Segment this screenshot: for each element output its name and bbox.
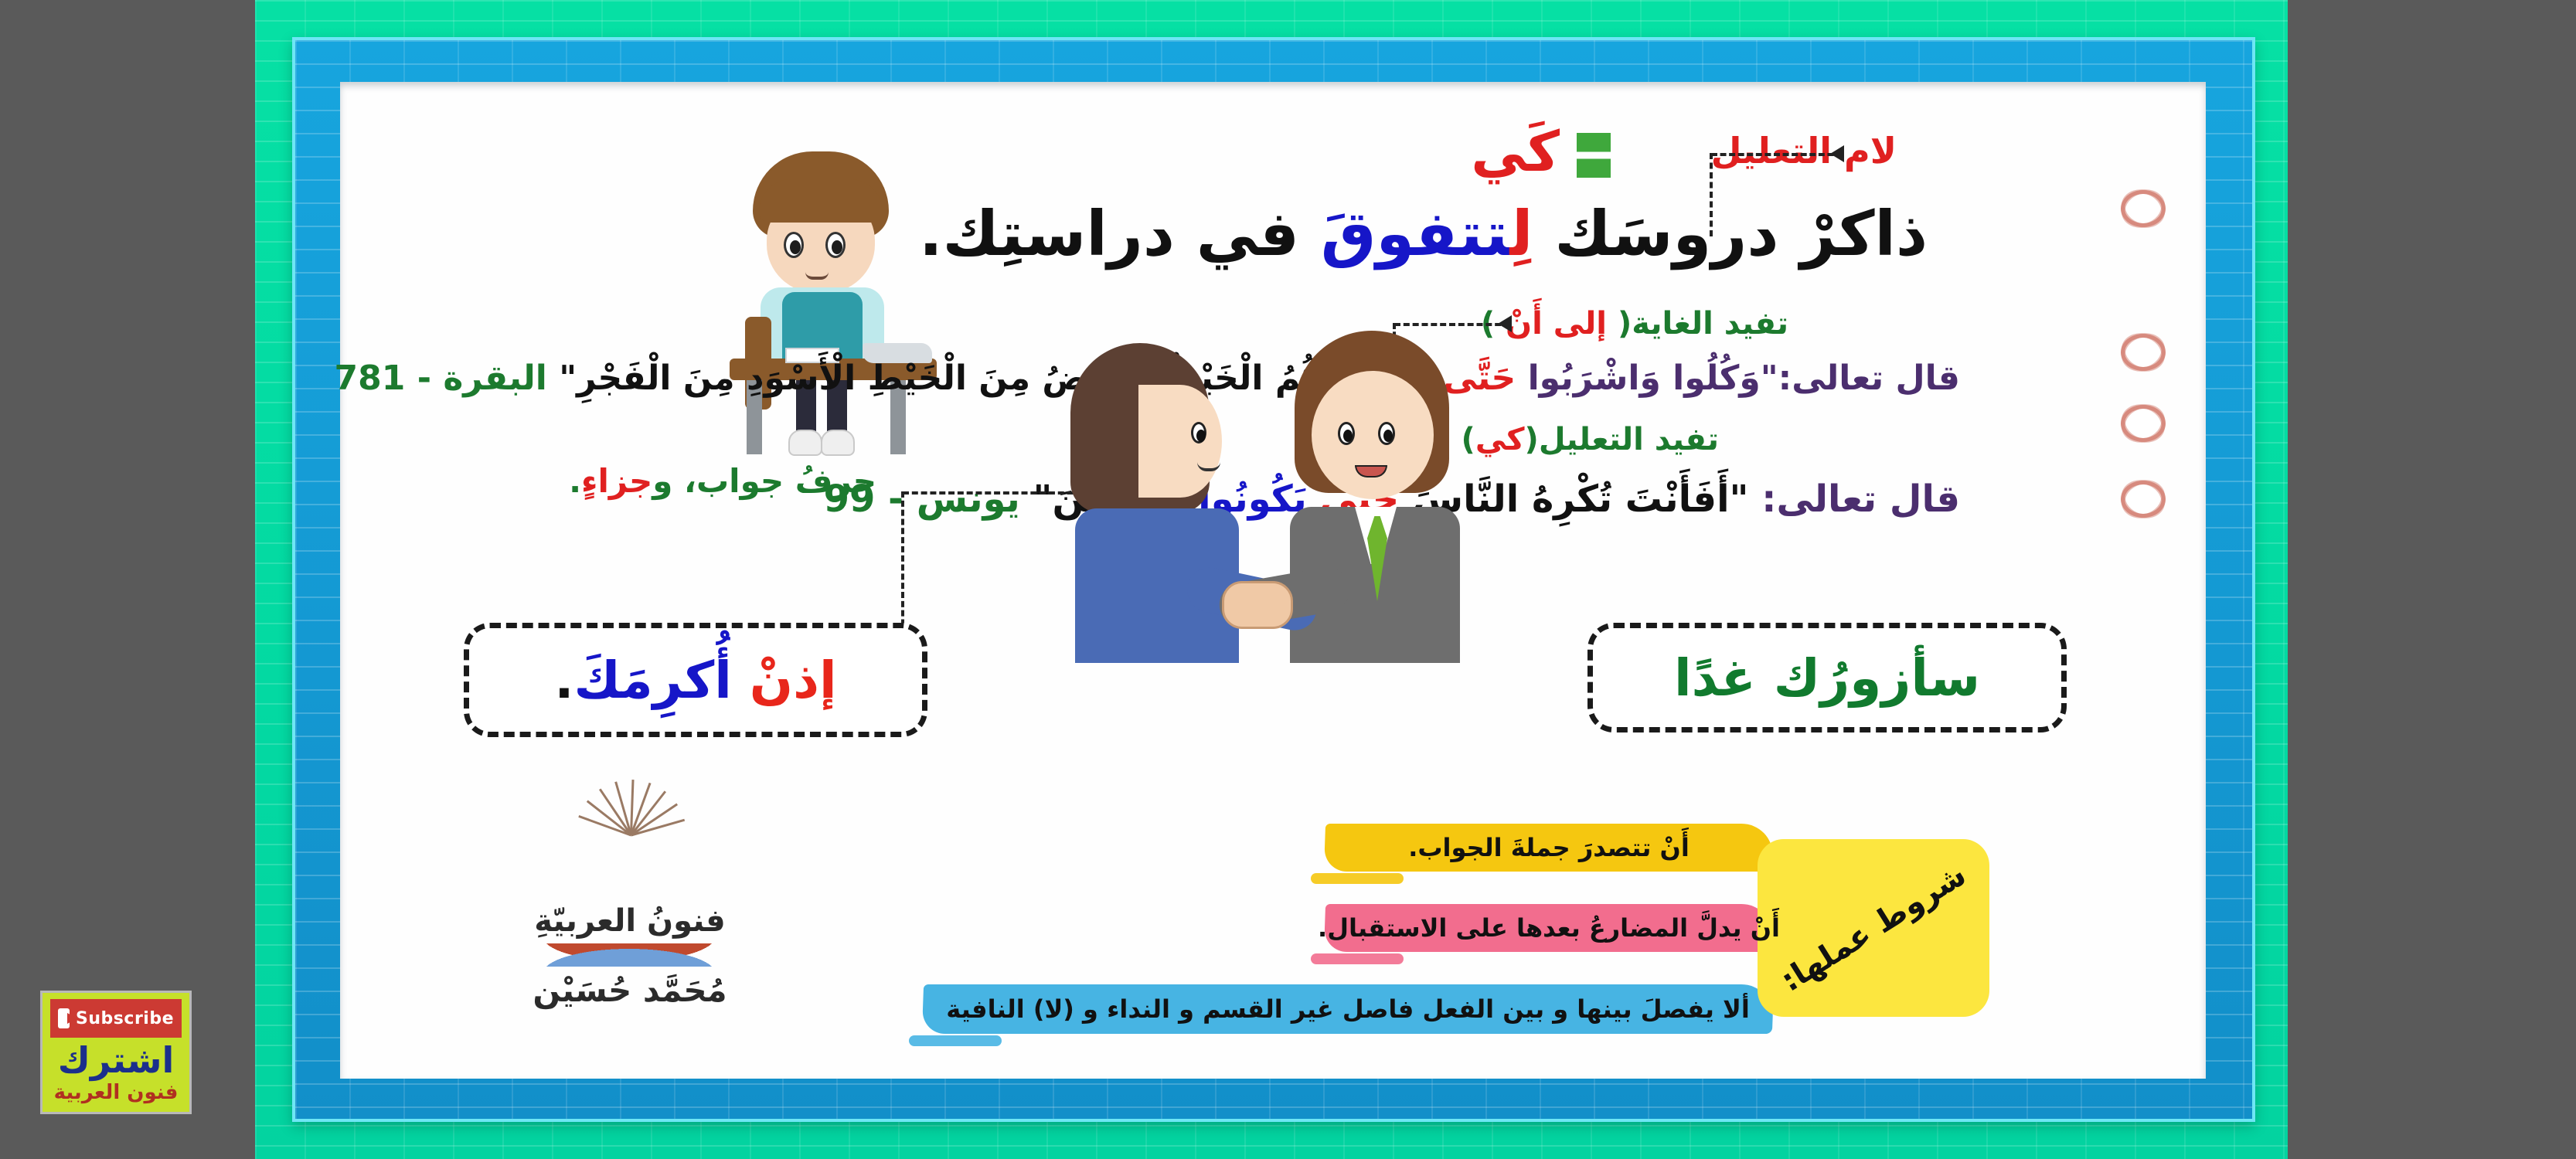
subscribe-badge[interactable]: Subscribe اشترك فنون العربية [40, 991, 192, 1114]
bubble-left-particle: إذنْ [750, 651, 837, 710]
sentence2-quote-a: "وَكُلُوا وَاشْرَبُوا [1516, 359, 1778, 398]
annotation-ghaya-main: تفيد الغاية( [1607, 306, 1788, 342]
bubble-left-period: . [554, 651, 573, 710]
subscribe-label-ar: اشترك [43, 1039, 189, 1081]
bullet-marker-4 [2121, 481, 2166, 518]
speech-bubble-right: سأزورُك غدًا [1587, 623, 2067, 732]
kay-equivalent-label: كَي [1471, 119, 1560, 184]
speech-bubble-left: إذنْ أُكرِمَكَ. [464, 623, 927, 737]
boy-studying-illustration [711, 151, 943, 461]
subscribe-label-en: Subscribe [76, 1009, 174, 1028]
condition-ribbon-3: ألا يفصلَ بينها و بين الفعل فاصل غير الق… [923, 984, 1773, 1034]
ribbon-1-tail [1311, 873, 1404, 884]
condition-ribbon-1: أَنْ تتصدرَ جملةَ الجواب. [1325, 824, 1773, 872]
logo-line-2: مُحَمَّد حُسَيْن [487, 971, 773, 1009]
ribbon-2-tail [1311, 953, 1404, 964]
speech-bubble-left-text: إذنْ أُكرِمَكَ. [554, 651, 836, 710]
bullet-markers [2098, 82, 2183, 1079]
bullet-marker-2 [2121, 334, 2166, 371]
bullet-marker-1 [2121, 190, 2166, 227]
condition-text-3: ألا يفصلَ بينها و بين الفعل فاصل غير الق… [946, 994, 1750, 1024]
ribbon-3-tail [909, 1035, 1002, 1046]
annotation-taleel-main: تفيد التعليل( [1525, 422, 1719, 457]
sentence2-intro: قال تعالى: [1778, 359, 1960, 398]
sentence2-ayah: - 187 [335, 359, 431, 398]
condition-text-1: أَنْ تتصدرَ جملةَ الجواب. [1408, 833, 1690, 862]
bullet-marker-3 [2121, 405, 2166, 442]
sentence1-part-a: ذاكرْ دروسَك [1533, 198, 1928, 270]
condition-text-2: أَنْ يدلَّ المضارعُ بعدها على الاستقبال. [1318, 913, 1780, 943]
slide-content-card: لام التعليل كَي ذاكرْ دروسَك لِتتفوقَ في… [340, 82, 2206, 1079]
equals-green-icon [1577, 133, 1611, 178]
youtube-play-icon [58, 1008, 70, 1028]
slide-canvas: لام التعليل كَي ذاكرْ دروسَك لِتتفوقَ في… [0, 0, 2576, 1159]
subscribe-channel-name: فنون العربية [43, 1081, 189, 1104]
sentence3-intro: قال تعالى: [1761, 478, 1960, 521]
condition-ribbon-2: أَنْ يدلَّ المضارعُ بعدها على الاستقبال. [1325, 904, 1773, 952]
channel-logo-watermark: فنونُ العربيّةِ مُحَمَّد حُسَيْن [487, 835, 773, 1040]
conditions-title-badge: شروط عملها: [1758, 839, 1989, 1017]
annotation-ghaya-red: إلى أَنْ [1506, 306, 1607, 342]
annotation-ghaya: تفيد الغاية( إلى أَنْ ) [1481, 306, 1788, 342]
annotation-jawab-end: . [569, 462, 581, 500]
handshake-illustration [1040, 314, 1472, 685]
bubble-left-verb: أُكرِمَكَ [573, 651, 749, 710]
subscribe-button[interactable]: Subscribe [50, 999, 182, 1038]
example-sentence-1: ذاكرْ دروسَك لِتتفوقَ في دراستِك. [919, 198, 1928, 270]
logo-line-1: فنونُ العربيّةِ [487, 903, 773, 939]
sentence1-verb: تتفوقَ [1321, 198, 1510, 270]
speech-bubble-right-text: سأزورُك غدًا [1674, 648, 1980, 708]
conditions-title-text: شروط عملها: [1775, 857, 1972, 998]
annotation-jawab-red: جزاءٍ [581, 462, 652, 500]
sentence2-reference: البقرة [443, 359, 547, 398]
annotation-taleel-red: كي [1475, 422, 1525, 457]
sentence1-part-b: في دراستِك. [919, 198, 1321, 270]
logo-book-icon [524, 943, 734, 967]
annotation-harf-jawab: حرفُ جواب، وجزاءٍ. [569, 462, 876, 500]
sentence1-lam: لِ [1509, 198, 1533, 270]
annotation-jawab-main: حرفُ جواب، و [652, 462, 876, 500]
annotation-taleel: تفيد التعليل(كي) [1462, 422, 1719, 457]
